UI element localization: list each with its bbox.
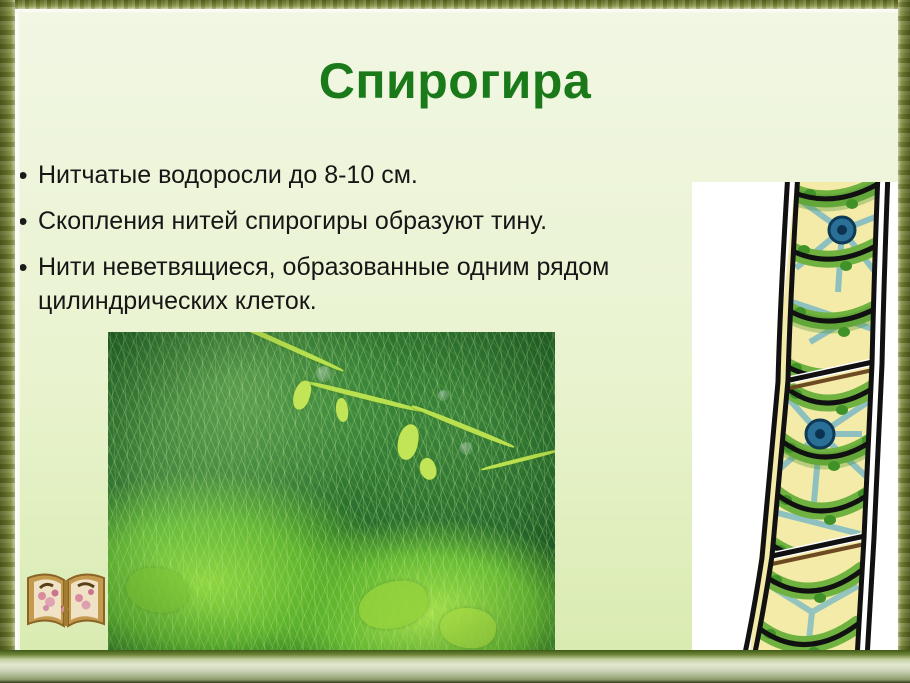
bullet-point-icon: •	[8, 204, 38, 238]
bullet-list: • Нитчатые водоросли до 8-10 см. • Скопл…	[8, 158, 708, 330]
slide-title: Спирогира	[0, 52, 910, 110]
bullet-point-icon: •	[8, 158, 38, 192]
bullet-text: Скопления нитей спирогиры образуют тину.	[38, 204, 708, 238]
book-spine	[64, 580, 68, 626]
list-item: • Скопления нитей спирогиры образуют тин…	[8, 204, 708, 238]
spirogyra-diagram-svg	[692, 182, 898, 654]
algae-photo	[108, 332, 555, 653]
frame-inner-highlight-top	[15, 9, 898, 13]
list-item: • Нитчатые водоросли до 8-10 см.	[8, 158, 708, 192]
photo-vignette	[108, 332, 555, 653]
cell-nucleus	[806, 420, 834, 448]
frame-inner-highlight-left	[15, 9, 20, 654]
bullet-text: Нитчатые водоросли до 8-10 см.	[38, 158, 708, 192]
open-book-clipart	[22, 562, 110, 636]
bullet-point-icon: •	[8, 250, 38, 284]
cell-nucleus	[829, 217, 855, 243]
spirogyra-filament-diagram	[692, 182, 898, 654]
list-item: • Нити неветвящиеся, образованные одним …	[8, 250, 708, 318]
frame-border-top	[0, 0, 910, 9]
bullet-text: Нити неветвящиеся, образованные одним ря…	[38, 250, 708, 318]
presentation-slide: Спирогира • Нитчатые водоросли до 8-10 с…	[0, 0, 910, 683]
open-book-icon	[22, 562, 110, 636]
frame-border-bottom	[0, 650, 910, 683]
